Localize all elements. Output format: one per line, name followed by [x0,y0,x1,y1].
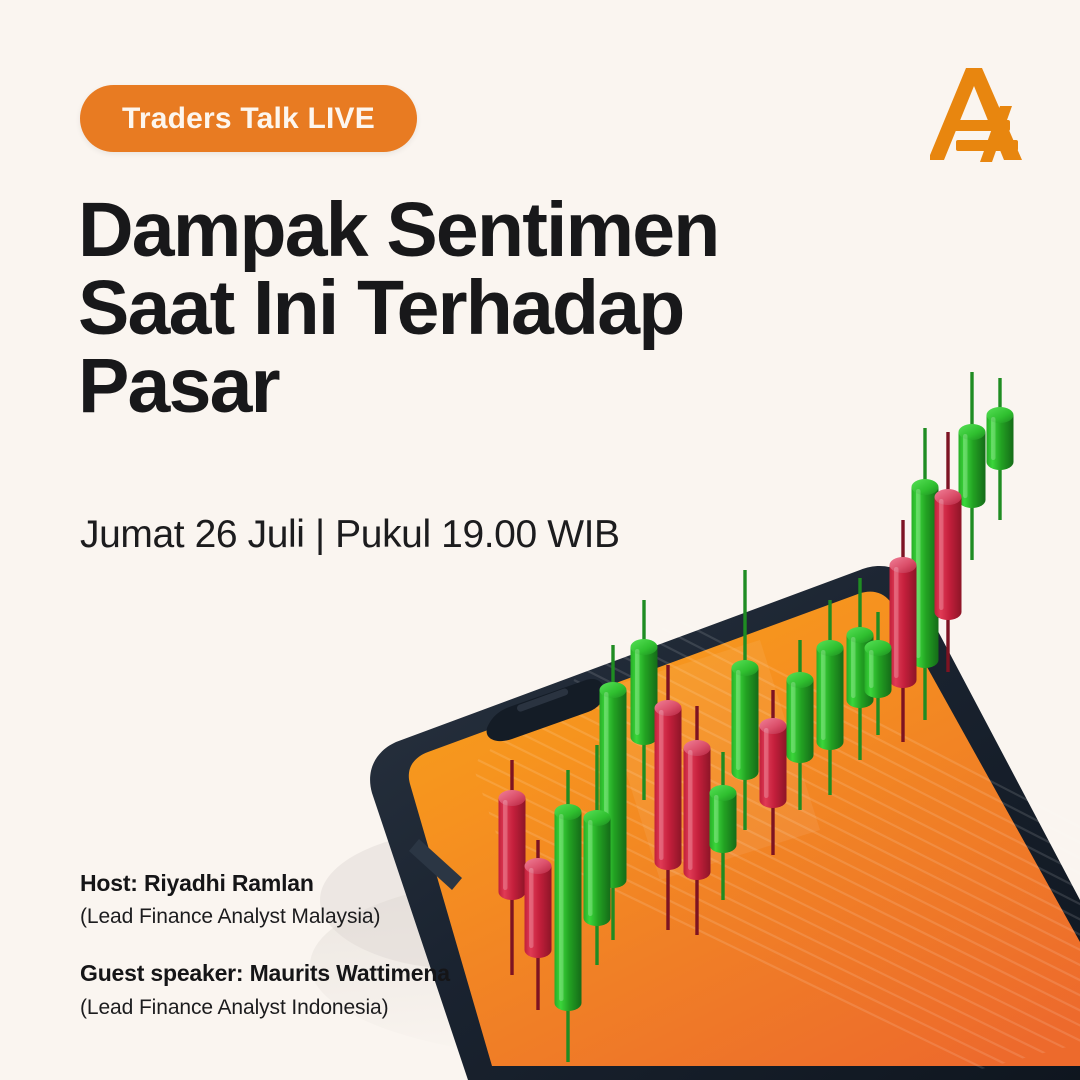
host-credit: Host: Riyadhi Ramlan (Lead Finance Analy… [80,868,450,932]
candlestick-19-up [959,372,986,560]
host-name: Host: Riyadhi Ramlan [80,868,450,899]
page-title: Dampak Sentimen Saat Ini Terhadap Pasar [78,192,838,425]
candlestick-6-up [631,600,658,800]
candlestick-9-up [710,752,737,900]
candlestick-7-down [655,665,682,930]
letter-a-logo-icon [930,62,1030,167]
candlestick-2-down [525,840,552,1010]
guest-name: Guest speaker: Maurits Wattimena [80,958,450,989]
headline-line-3: Pasar [78,348,838,426]
host-role: (Lead Finance Analyst Malaysia) [80,902,450,932]
candlestick-16-down [890,520,917,742]
candlestick-12-up [787,640,814,810]
candlestick-5-up [600,645,627,940]
candlestick-13-up [817,600,844,795]
candlestick-17-up [912,428,939,720]
poster-canvas: Traders Talk LIVE Dampak Sentimen Saat I… [0,0,1080,1080]
candlestick-20-up [987,378,1014,520]
candlestick-18-down [935,432,962,672]
live-badge-label: Traders Talk LIVE [122,102,375,136]
guest-credit: Guest speaker: Maurits Wattimena (Lead F… [80,958,450,1022]
candlestick-15-up [865,612,892,735]
candlestick-4-up [584,745,611,965]
smartphone-icon [370,566,1080,1080]
live-badge[interactable]: Traders Talk LIVE [80,85,417,152]
phone-notch [487,679,605,741]
candlestick-1-down [499,760,526,975]
headline-line-2: Saat Ini Terhadap [78,270,838,348]
candlestick-series [499,372,1014,1062]
schedule-text: Jumat 26 Juli | Pukul 19.00 WIB [80,513,620,557]
brand-logo [930,62,1030,167]
credits-block: Host: Riyadhi Ramlan (Lead Finance Analy… [80,868,450,1049]
headline-line-1: Dampak Sentimen [78,192,838,270]
candlestick-10-up [732,570,759,830]
letter-a-watermark-icon [736,726,1015,1006]
screen-texture [430,610,1080,1080]
candlestick-14-up [847,578,874,760]
guest-role: (Lead Finance Analyst Indonesia) [80,993,450,1023]
candlestick-11-down [760,690,787,855]
candlestick-8-down [684,706,711,935]
candlestick-3-up [555,770,582,1062]
